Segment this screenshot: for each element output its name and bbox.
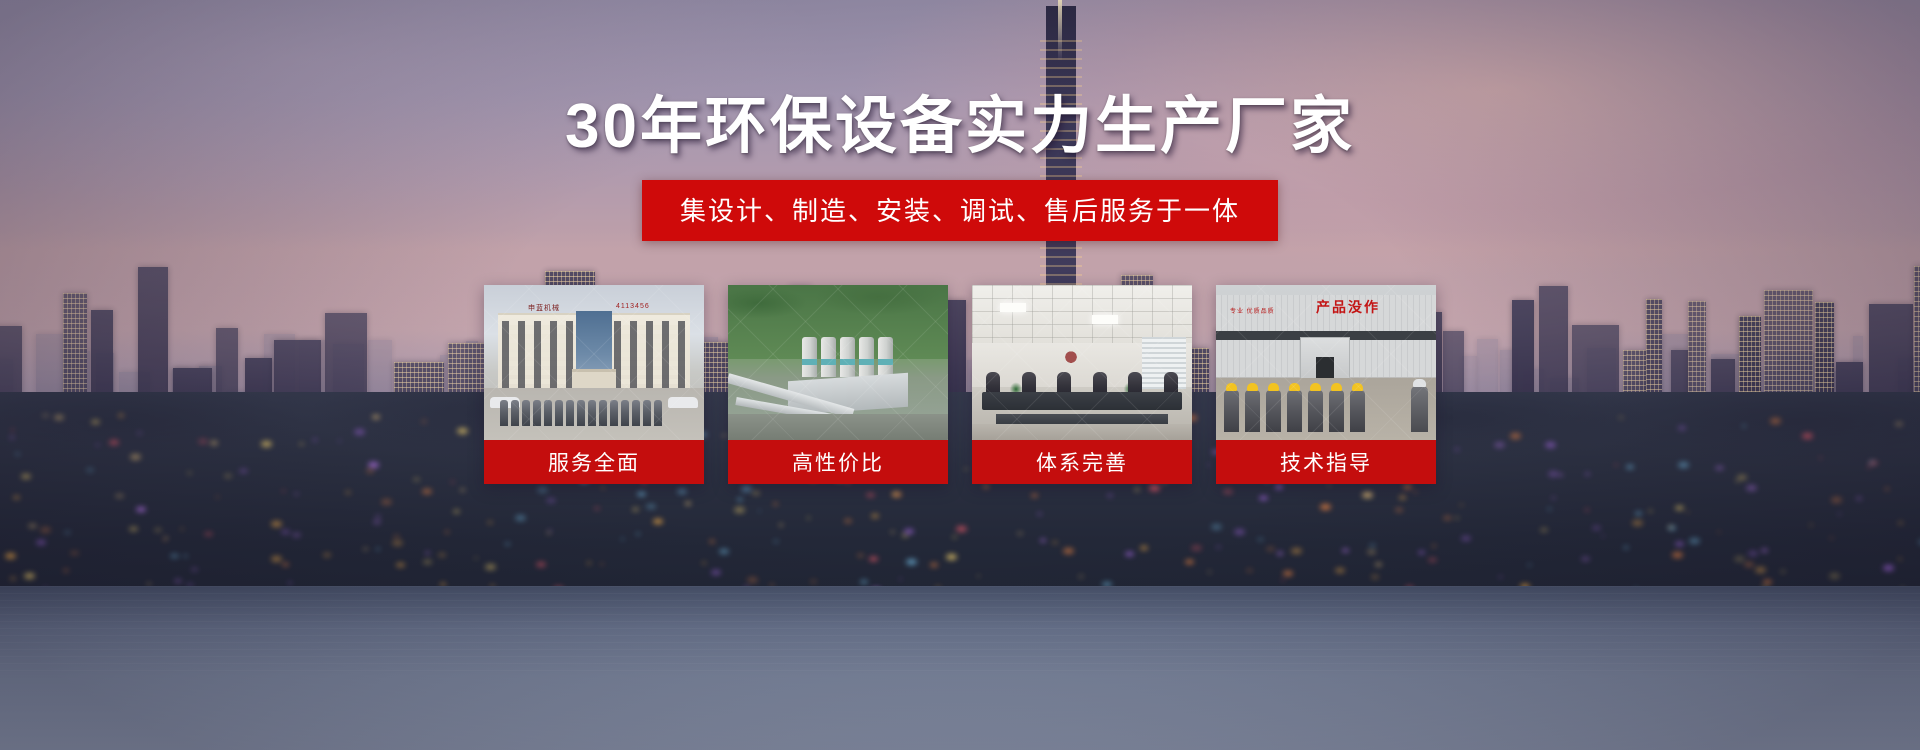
- ceiling-light: [1000, 303, 1026, 312]
- photo-scene: [728, 285, 948, 440]
- banner-subtitle-ribbon: 集设计、制造、安装、调试、售后服务于一体: [642, 180, 1278, 241]
- card-photo-factory-workers: 产品没作 专业 优质品质: [1216, 285, 1436, 440]
- photo-scene: 申蓝机械 4113456: [484, 285, 704, 440]
- banner-headline: 30年环保设备实力生产厂家: [565, 96, 1355, 158]
- feature-card[interactable]: 产品没作 专业 优质品质 技术指导: [1216, 285, 1436, 484]
- staff-lineup: [500, 400, 690, 426]
- office-desk-row: [982, 392, 1182, 410]
- company-sign-text: 申蓝机械: [528, 303, 560, 313]
- banner-content: 30年环保设备实力生产厂家 集设计、制造、安装、调试、售后服务于一体 申蓝机械 …: [0, 0, 1920, 750]
- office-floor: [972, 424, 1192, 440]
- storage-silos: [802, 337, 893, 377]
- card-photo-company-building: 申蓝机械 4113456: [484, 285, 704, 440]
- ceiling-light: [1092, 315, 1118, 324]
- workshop-banner-sign: 产品没作: [1316, 297, 1380, 317]
- company-phone-text: 4113456: [616, 303, 650, 310]
- card-caption: 体系完善: [972, 440, 1192, 484]
- wall-logo: [1058, 349, 1084, 367]
- feature-card[interactable]: 体系完善: [972, 285, 1192, 484]
- plant-road: [728, 414, 948, 440]
- feature-card-list: 申蓝机械 4113456 服务全面: [484, 285, 1436, 484]
- photo-scene: 产品没作 专业 优质品质: [1216, 285, 1436, 440]
- photo-scene: [972, 285, 1192, 440]
- office-ceiling-grid: [972, 285, 1192, 345]
- supervisor-figure: [1411, 386, 1428, 432]
- workshop-slogan-text: 专业 优质品质: [1230, 309, 1275, 317]
- card-photo-office-interior: [972, 285, 1192, 440]
- workers-lineup: [1224, 384, 1428, 432]
- card-caption: 服务全面: [484, 440, 704, 484]
- feature-card[interactable]: 高性价比: [728, 285, 948, 484]
- feature-card[interactable]: 申蓝机械 4113456 服务全面: [484, 285, 704, 484]
- card-caption: 高性价比: [728, 440, 948, 484]
- hero-banner: 30年环保设备实力生产厂家 集设计、制造、安装、调试、售后服务于一体 申蓝机械 …: [0, 0, 1920, 750]
- card-photo-industrial-plant: [728, 285, 948, 440]
- card-caption: 技术指导: [1216, 440, 1436, 484]
